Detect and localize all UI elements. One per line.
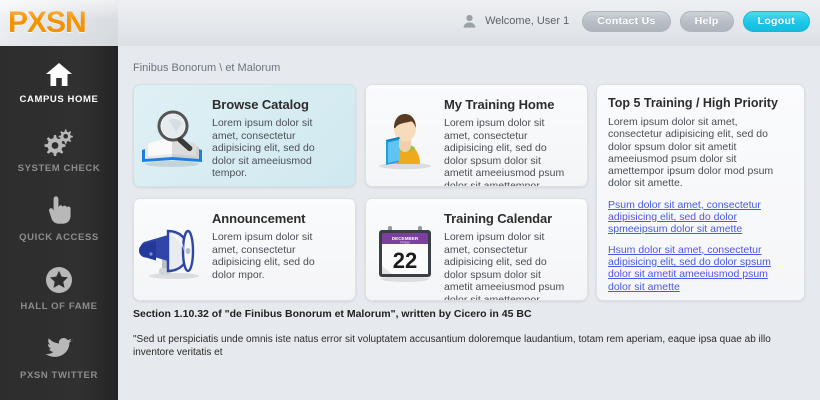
help-button[interactable]: Help <box>680 11 734 32</box>
dashboard-cards-grid: Browse Catalog Lorem ipsum dolor sit ame… <box>133 84 588 301</box>
breadcrumb: Finibus Bonorum \ et Malorum <box>133 62 280 74</box>
person-icon <box>463 14 476 28</box>
logo-area[interactable]: PXSN <box>0 0 118 46</box>
article-section: Section 1.10.32 of "de Finibus Bonorum e… <box>133 308 805 359</box>
sidebar-item-label: CAMPUS HOME <box>20 94 99 105</box>
card-body: Announcement Lorem ipsum dolor sit amet,… <box>212 199 350 281</box>
card-description: Lorem ipsum dolor sit amet, consectetur … <box>444 117 572 187</box>
pointing-hand-icon <box>47 195 71 225</box>
top-header-bar: PXSN Welcome, User 1 Contact Us Help Log… <box>0 0 820 46</box>
card-title: My Training Home <box>444 97 572 112</box>
cards-row-2: Announcement Lorem ipsum dolor sit amet,… <box>133 198 588 301</box>
sidebar-item-label: SYSTEM CHECK <box>18 163 101 174</box>
welcome-message: Welcome, User 1 <box>485 15 569 27</box>
sidebar-item-campus-home[interactable]: CAMPUS HOME <box>0 46 118 115</box>
gears-icon <box>43 126 75 156</box>
card-browse-catalog[interactable]: Browse Catalog Lorem ipsum dolor sit ame… <box>133 84 356 187</box>
svg-text:22: 22 <box>393 248 417 273</box>
article-body: "Sed ut perspiciatis unde omnis iste nat… <box>133 333 805 359</box>
contact-us-button[interactable]: Contact Us <box>582 11 670 32</box>
book-magnifier-icon <box>134 85 212 187</box>
sidebar-item-hall-of-fame[interactable]: HALL OF FAME <box>0 253 118 322</box>
card-description: Lorem ipsum dolor sit amet, consectetur … <box>444 231 572 301</box>
sidebar-item-system-check[interactable]: SYSTEM CHECK <box>0 115 118 184</box>
sidebar-item-label: HALL OF FAME <box>20 301 97 312</box>
card-body: Training Calendar Lorem ipsum dolor sit … <box>444 199 582 301</box>
card-description: Lorem ipsum dolor sit amet, consectetur … <box>212 117 340 180</box>
panel-title: Top 5 Training / High Priority <box>608 96 793 110</box>
article-heading: Section 1.10.32 of "de Finibus Bonorum e… <box>133 308 805 320</box>
calendar-icon: DECEMBER Friday 22 <box>366 199 444 301</box>
home-icon <box>45 57 73 87</box>
cards-row-1: Browse Catalog Lorem ipsum dolor sit ame… <box>133 84 588 187</box>
megaphone-icon <box>134 199 212 301</box>
panel-intro-text: Lorem ipsum dolor sit amet, consectetur … <box>608 116 793 190</box>
star-circle-icon <box>45 264 73 294</box>
training-link[interactable]: Hsum dolor sit amet, consectetur adipisi… <box>608 244 793 293</box>
main-content-area: Finibus Bonorum \ et Malorum <box>118 46 820 400</box>
top-5-training-panel: Top 5 Training / High Priority Lorem ips… <box>596 84 805 301</box>
left-sidebar-nav: CAMPUS HOME SYSTEM CHECK QUICK ACCESS <box>0 46 118 400</box>
sidebar-item-quick-access[interactable]: QUICK ACCESS <box>0 184 118 253</box>
card-description: Lorem ipsum dolor sit amet, consectetur … <box>212 231 340 281</box>
card-body: Browse Catalog Lorem ipsum dolor sit ame… <box>212 85 350 180</box>
header-actions: Welcome, User 1 Contact Us Help Logout <box>463 9 810 33</box>
card-title: Announcement <box>212 211 340 226</box>
student-book-icon <box>366 85 444 187</box>
training-link[interactable]: Psum dolor sit amet, consectetur adipisi… <box>608 199 793 236</box>
card-title: Browse Catalog <box>212 97 340 112</box>
sidebar-item-label: PXSN TWITTER <box>20 370 98 381</box>
svg-text:Friday: Friday <box>400 240 410 244</box>
sidebar-item-label: QUICK ACCESS <box>19 232 99 243</box>
card-announcement[interactable]: Announcement Lorem ipsum dolor sit amet,… <box>133 198 356 301</box>
sidebar-item-pxsn-twitter[interactable]: PXSN TWITTER <box>0 322 118 391</box>
logo-gloss-overlay <box>0 0 118 20</box>
card-my-training-home[interactable]: My Training Home Lorem ipsum dolor sit a… <box>365 84 588 187</box>
card-body: My Training Home Lorem ipsum dolor sit a… <box>444 85 582 187</box>
card-title: Training Calendar <box>444 211 572 226</box>
card-training-calendar[interactable]: DECEMBER Friday 22 Training Calendar Lor… <box>365 198 588 301</box>
bird-icon <box>43 333 75 363</box>
logout-button[interactable]: Logout <box>743 11 810 32</box>
